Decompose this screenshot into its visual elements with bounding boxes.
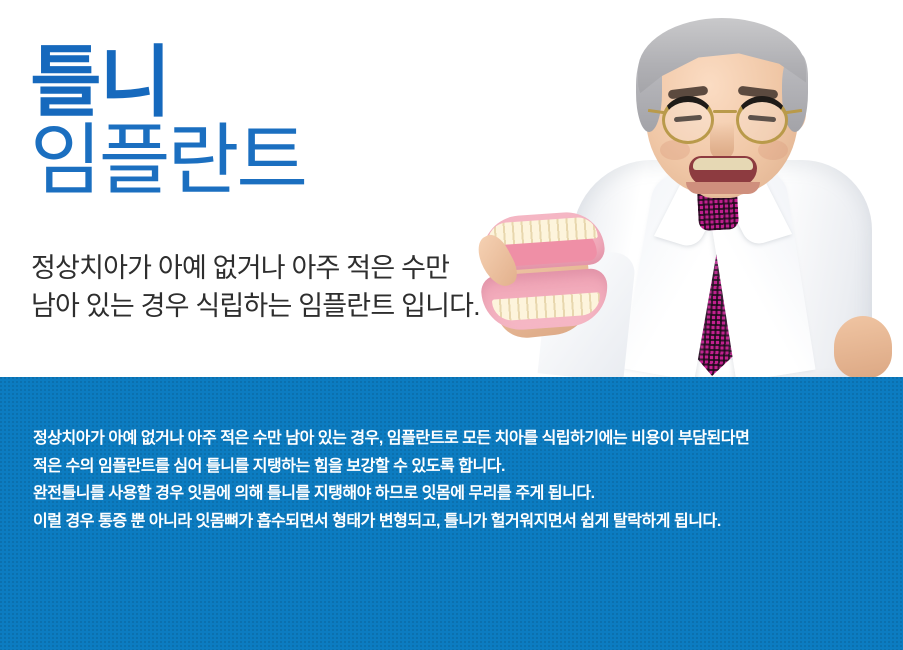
subtitle-line-1: 정상치아가 아예 없거나 아주 적은 수만 bbox=[31, 249, 480, 287]
dentist-photo bbox=[470, 0, 903, 377]
description-line-3: 완전틀니를 사용할 경우 잇몸에 의해 틀니를 지탱해야 하므로 잇몸에 무리를… bbox=[33, 480, 873, 508]
title-line-denture: 틀니 bbox=[30, 44, 305, 120]
glasses-lens-right bbox=[736, 96, 788, 144]
hand-right bbox=[834, 316, 892, 377]
nose bbox=[710, 122, 734, 160]
subtitle-line-2: 남아 있는 경우 식립하는 임플란트 입니다. bbox=[31, 287, 480, 325]
dental-implant-banner: 틀니 임플란트 정상치아가 아예 없거나 아주 적은 수만 남아 있는 경우 식… bbox=[0, 0, 903, 650]
description-text: 정상치아가 아예 없거나 아주 적은 수만 남아 있는 경우, 임플란트로 모든… bbox=[33, 425, 873, 535]
subtitle: 정상치아가 아예 없거나 아주 적은 수만 남아 있는 경우 식립하는 임플란트… bbox=[31, 249, 480, 326]
description-line-4: 이럴 경우 통증 뿐 아니라 잇몸뼈가 흡수되면서 형태가 변형되고, 틀니가 … bbox=[33, 508, 873, 536]
lower-lip bbox=[686, 182, 760, 194]
description-panel: 정상치아가 아예 없거나 아주 적은 수만 남아 있는 경우, 임플란트로 모든… bbox=[0, 377, 903, 650]
upper-teeth bbox=[693, 158, 753, 170]
hero-white-section: 틀니 임플란트 정상치아가 아예 없거나 아주 적은 수만 남아 있는 경우 식… bbox=[0, 0, 903, 377]
title-line-implant: 임플란트 bbox=[30, 122, 305, 198]
glasses-bridge bbox=[713, 110, 737, 113]
description-line-2: 적은 수의 임플란트를 심어 틀니를 지탱하는 힘을 보강할 수 있도록 합니다… bbox=[33, 453, 873, 481]
page-title: 틀니 임플란트 bbox=[30, 44, 305, 199]
glasses-lens-left bbox=[662, 96, 714, 144]
description-line-1: 정상치아가 아예 없거나 아주 적은 수만 남아 있는 경우, 임플란트로 모든… bbox=[33, 425, 873, 453]
